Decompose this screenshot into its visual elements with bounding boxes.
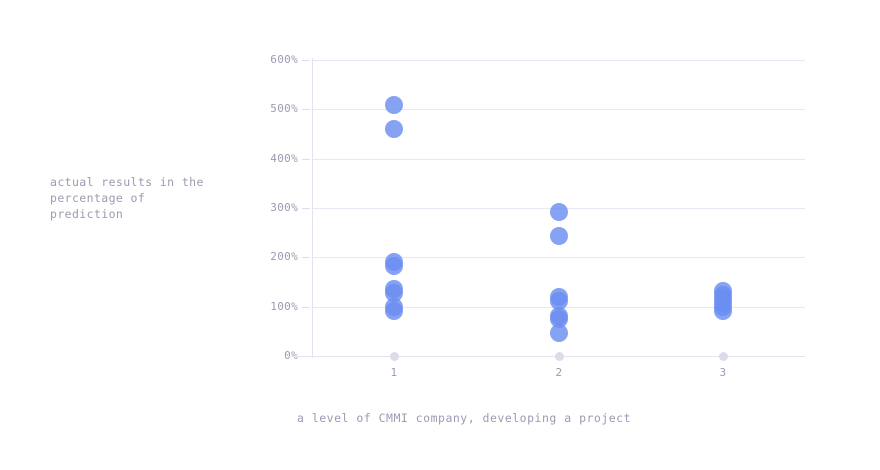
y-axis-title: actual results in the percentage of pred… bbox=[50, 174, 250, 222]
y-tick-mark bbox=[302, 257, 310, 258]
y-tick-label: 500% bbox=[252, 102, 298, 115]
x-tick-label: 2 bbox=[539, 366, 579, 379]
y-tick-mark bbox=[302, 307, 310, 308]
data-point[interactable] bbox=[550, 203, 568, 221]
plot-area bbox=[312, 60, 805, 356]
data-point[interactable] bbox=[550, 324, 568, 342]
y-tick-label: 600% bbox=[252, 53, 298, 66]
y-tick-mark bbox=[302, 60, 310, 61]
x-tick-label: 1 bbox=[374, 366, 414, 379]
data-point[interactable] bbox=[385, 302, 403, 320]
data-point[interactable] bbox=[714, 302, 732, 320]
x-tick-label: 3 bbox=[703, 366, 743, 379]
y-tick-mark bbox=[302, 159, 310, 160]
x-axis-title: a level of CMMI company, developing a pr… bbox=[0, 411, 880, 425]
y-tick-label: 100% bbox=[252, 300, 298, 313]
y-tick-label: 300% bbox=[252, 201, 298, 214]
data-point[interactable] bbox=[385, 120, 403, 138]
y-tick-mark bbox=[302, 208, 310, 209]
data-point[interactable] bbox=[385, 257, 403, 275]
data-point[interactable] bbox=[550, 227, 568, 245]
y-tick-mark bbox=[302, 109, 310, 110]
y-tick-label: 400% bbox=[252, 152, 298, 165]
scatter-chart: actual results in the percentage of pred… bbox=[0, 0, 880, 470]
data-point[interactable] bbox=[385, 96, 403, 114]
y-tick-label: 200% bbox=[252, 250, 298, 263]
